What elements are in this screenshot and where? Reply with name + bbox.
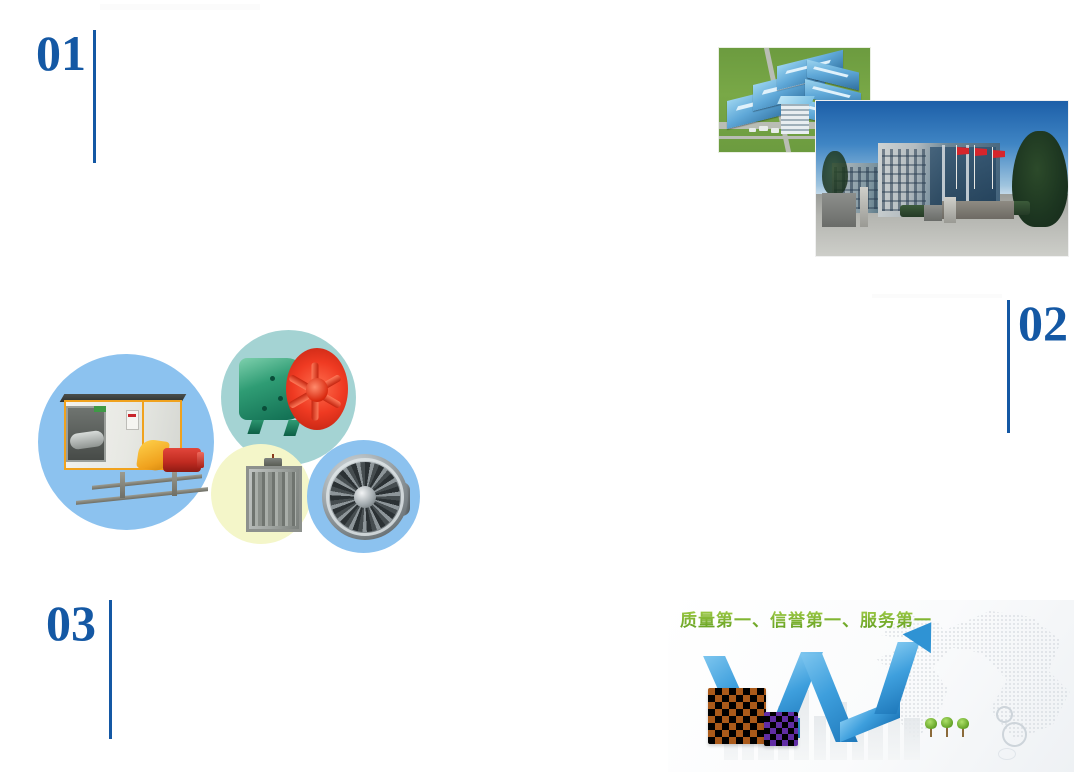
section-rule-01 [93, 30, 96, 163]
banner-slogan: 质量第一、信誉第一、服务第一 [680, 606, 932, 631]
section-number-02: 02 [1018, 298, 1068, 348]
section-number-01: 01 [36, 28, 86, 78]
section-number-03: 03 [46, 598, 96, 648]
scan-artifact-right [872, 294, 1002, 298]
green-cube-graphic [764, 712, 798, 746]
section-rule-02 [1007, 300, 1010, 433]
growth-arrow-banner: 质量第一、信誉第一、服务第一 [668, 600, 1074, 772]
office-building-photo [815, 100, 1069, 257]
section-rule-03 [109, 600, 112, 739]
product-image-cluster [34, 322, 434, 552]
scan-artifact-top [100, 4, 260, 10]
page-canvas: 01 02 03 [0, 0, 1074, 772]
blue-cube-graphic [708, 688, 766, 744]
